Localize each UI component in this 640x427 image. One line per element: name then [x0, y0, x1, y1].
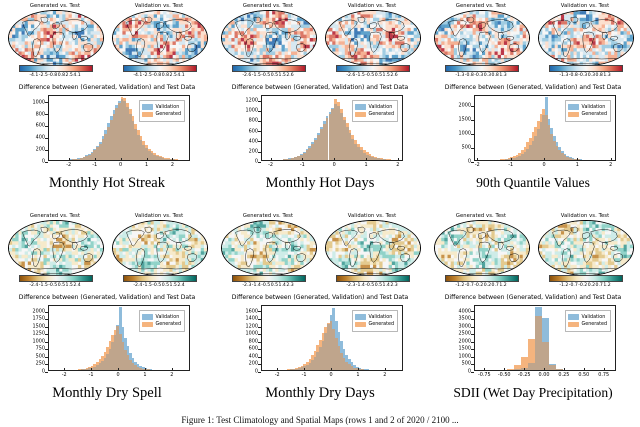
histogram-legend: ValidationGenerated	[565, 310, 611, 332]
colorbar-tick: 1.5	[278, 71, 286, 80]
x-tick-mark	[504, 368, 505, 371]
legend-swatch-generated	[142, 112, 153, 118]
x-axis: -2-1012	[261, 370, 401, 380]
histogram-90th-quantile-values: 0500100015002000ValidationGenerated-2-10…	[428, 92, 638, 178]
x-tick-mark	[611, 158, 612, 161]
y-tick-label: 1250	[33, 332, 45, 337]
panel-monthly-dry-days: Generated vs. Test-2.3-1.4-0.50.51.42.3V…	[215, 212, 425, 407]
world-map-svg	[113, 11, 207, 65]
colorbar-tick: 0.5	[161, 281, 169, 290]
y-tick-label: 1000	[33, 339, 45, 344]
world-map-svg	[222, 221, 316, 275]
y-tick-label: 4000	[459, 309, 471, 314]
legend-entry-validation: Validation	[568, 314, 607, 321]
figure-root: Generated vs. Test-4.1-2.5-0.80.82.54.1V…	[0, 0, 640, 427]
x-tick-label: 1	[145, 160, 148, 170]
colorbar-tick: -0.5	[365, 71, 374, 80]
legend-label-generated: Generated	[369, 111, 394, 118]
colorbar-tick: 2.3	[286, 281, 294, 290]
colorbar-validation: -1.2-0.7-0.20.20.71.2	[535, 275, 635, 291]
globe-validation	[538, 220, 634, 276]
globe-validation	[112, 220, 208, 276]
map-generated-monthly-hot-days: Generated vs. Test-2.6-1.5-0.50.51.52.6	[218, 2, 318, 80]
colorbar-tick: -0.3	[474, 71, 483, 80]
hist-bar-overlap	[528, 363, 535, 370]
colorbar-tick: -0.5	[152, 281, 161, 290]
y-tick-label: 3500	[459, 317, 471, 322]
colorbar-tick: 0.5	[270, 71, 278, 80]
panel-sdii-wet-day-precipitation: Generated vs. Test-1.2-0.7-0.20.20.71.2V…	[428, 212, 638, 407]
x-tick-label: -1	[89, 370, 94, 380]
x-tick-label: -2	[62, 370, 67, 380]
y-axis: 025050075010001250150017502000	[2, 305, 45, 369]
colorbar-tick: -2.5	[143, 71, 152, 80]
y-tick-label: 1600	[246, 309, 258, 314]
x-tick-label: -1	[508, 160, 513, 170]
map-title: Validation vs. Test	[322, 212, 422, 220]
y-tick-label: 1400	[246, 317, 258, 322]
globe-wrap	[218, 10, 318, 64]
colorbar-tick: -1.4	[252, 281, 261, 290]
colorbar-validation: -2.3-1.4-0.50.51.42.3	[322, 275, 422, 291]
x-tick-mark	[118, 368, 119, 371]
x-tick-mark	[366, 158, 367, 161]
x-tick-label: -0.25	[518, 370, 531, 380]
y-tick-label: 400	[36, 136, 45, 141]
map-title: Generated vs. Test	[431, 2, 531, 10]
legend-label-validation: Validation	[369, 104, 393, 111]
colorbar-tick: -2.3	[346, 281, 355, 290]
globe-generated	[8, 220, 104, 276]
colorbar-tick: -0.5	[365, 281, 374, 290]
world-map-svg	[222, 11, 316, 65]
colorbar-tick: 2.5	[169, 71, 177, 80]
map-title: Generated vs. Test	[431, 212, 531, 220]
y-tick-label: 600	[249, 347, 258, 352]
x-tick-label: -1	[302, 370, 307, 380]
histogram-legend: ValidationGenerated	[352, 310, 398, 332]
legend-label-validation: Validation	[156, 314, 180, 321]
histogram-monthly-dry-spell: 025050075010001250150017502000Validation…	[2, 302, 212, 388]
y-tick-label: 2500	[459, 332, 471, 337]
colorbar-tick: -2.4	[133, 281, 142, 290]
globe-wrap	[535, 220, 635, 274]
y-tick-label: 200	[249, 149, 258, 154]
x-tick-label: -0.50	[498, 370, 511, 380]
world-map-svg	[435, 11, 529, 65]
x-tick-mark	[172, 158, 173, 161]
colorbar-tick: -0.8	[465, 71, 474, 80]
map-title: Generated vs. Test	[5, 2, 105, 10]
colorbar-tick: -2.6	[346, 71, 355, 80]
panel-title: SDII (Wet Day Precipitation)	[428, 384, 638, 402]
legend-swatch-validation	[568, 104, 579, 110]
y-tick-label: 1200	[246, 99, 258, 104]
maps-row: Generated vs. Test-1.2-0.7-0.20.20.71.2V…	[428, 212, 638, 290]
colorbar-tick: 0.5	[374, 281, 382, 290]
x-tick-mark	[304, 368, 305, 371]
y-tick-label: 3000	[459, 324, 471, 329]
map-title: Generated vs. Test	[5, 212, 105, 220]
globe-validation	[538, 10, 634, 66]
hist-bar-overlap	[535, 316, 542, 371]
histogram-title: Difference between (Generated, Validatio…	[428, 293, 638, 302]
y-tick-label: 2000	[459, 104, 471, 109]
x-tick-label: 0	[116, 370, 119, 380]
legend-entry-validation: Validation	[142, 104, 181, 111]
x-tick-label: 1	[143, 370, 146, 380]
colorbar-tick: -0.7	[569, 281, 578, 290]
x-axis: -2-1012	[48, 370, 188, 380]
x-tick-mark	[398, 158, 399, 161]
histogram-sdii-wet-day-precipitation: 05001000150020002500300035004000Validati…	[428, 302, 638, 388]
map-generated-sdii-wet-day-precipitation: Generated vs. Test-1.2-0.7-0.20.20.71.2	[431, 212, 531, 290]
colorbar-tick: -0.3	[578, 71, 587, 80]
x-tick-label: 2	[171, 160, 174, 170]
colorbar-tick: -2.4	[29, 281, 38, 290]
legend-swatch-generated	[355, 322, 366, 328]
maps-row: Generated vs. Test-1.3-0.8-0.30.30.81.3V…	[428, 2, 638, 80]
colorbar-ticklabels: -4.1-2.5-0.80.82.54.1	[5, 71, 105, 80]
histogram-title: Difference between (Generated, Validatio…	[215, 293, 425, 302]
x-tick-label: 2	[396, 160, 399, 170]
colorbar-tick: 0.8	[595, 71, 603, 80]
colorbar-tick: 2.4	[73, 281, 81, 290]
globe-wrap	[109, 220, 209, 274]
x-tick-label: 1	[364, 160, 367, 170]
x-tick-mark	[95, 158, 96, 161]
y-tick-label: 1500	[33, 324, 45, 329]
colorbar-ticklabels: -2.3-1.4-0.50.51.42.3	[218, 281, 318, 290]
colorbar-tick: 2.6	[286, 71, 294, 80]
map-validation-monthly-dry-days: Validation vs. Test-2.3-1.4-0.50.51.42.3	[322, 212, 422, 290]
histogram-monthly-hot-days: 020040060080010001200ValidationGenerated…	[215, 92, 425, 178]
x-tick-label: -2	[475, 160, 480, 170]
map-validation-monthly-dry-spell: Validation vs. Test-2.4-1.5-0.50.51.52.4	[109, 212, 209, 290]
x-tick-mark	[484, 368, 485, 371]
y-tick-label: 1200	[246, 324, 258, 329]
globe-validation	[112, 10, 208, 66]
colorbar-tick: -0.2	[474, 281, 483, 290]
x-tick-label: 0.00	[539, 370, 550, 380]
colorbar-tick: 0.8	[161, 71, 169, 80]
legend-label-generated: Generated	[156, 321, 181, 328]
x-axis: -0.75-0.50-0.250.000.250.500.75	[474, 370, 614, 380]
colorbar-tick: 2.3	[390, 281, 398, 290]
map-generated-90th-quantile-values: Generated vs. Test-1.3-0.8-0.30.30.81.3	[431, 2, 531, 80]
colorbar-tick: -0.8	[48, 71, 57, 80]
x-tick-mark	[334, 158, 335, 161]
colorbar-validation: -2.6-1.5-0.50.51.52.6	[322, 65, 422, 81]
histogram-plot-area: ValidationGenerated	[261, 305, 403, 371]
x-tick-label: 0.25	[558, 370, 569, 380]
x-tick-label: 0	[542, 160, 545, 170]
x-tick-mark	[91, 368, 92, 371]
x-tick-mark	[564, 368, 565, 371]
map-validation-90th-quantile-values: Validation vs. Test-1.3-0.8-0.30.30.81.3	[535, 2, 635, 80]
histogram-monthly-dry-days: 02004006008001000120014001600ValidationG…	[215, 302, 425, 388]
colorbar-tick: -2.5	[39, 71, 48, 80]
x-tick-label: 0	[119, 160, 122, 170]
colorbar-ticklabels: -4.1-2.5-0.80.82.54.1	[109, 71, 209, 80]
x-tick-label: 2	[383, 370, 386, 380]
legend-label-validation: Validation	[156, 104, 180, 111]
panel-title: Monthly Dry Spell	[2, 384, 212, 402]
histogram-plot-area: ValidationGenerated	[474, 95, 616, 161]
panel-monthly-dry-spell: Generated vs. Test-2.4-1.5-0.50.51.52.4V…	[2, 212, 212, 407]
world-map-svg	[9, 221, 103, 275]
globe-wrap	[218, 220, 318, 274]
map-validation-monthly-hot-streak: Validation vs. Test-4.1-2.5-0.80.82.54.1	[109, 2, 209, 80]
panel-title: 90th Quantile Values	[428, 174, 638, 192]
histogram-monthly-hot-streak: 02004006008001000ValidationGenerated-2-1…	[2, 92, 212, 178]
y-tick-label: 1000	[33, 100, 45, 105]
map-title: Validation vs. Test	[535, 2, 635, 10]
x-tick-mark	[277, 368, 278, 371]
colorbar-tick: -1.3	[455, 71, 464, 80]
colorbar-tick: 1.5	[169, 281, 177, 290]
histogram-legend: ValidationGenerated	[139, 100, 185, 122]
panel-title: Monthly Dry Days	[215, 384, 425, 402]
y-tick-label: 800	[36, 112, 45, 117]
x-tick-mark	[524, 368, 525, 371]
x-tick-label: 1	[576, 160, 579, 170]
y-tick-label: 400	[249, 139, 258, 144]
y-tick-label: 250	[36, 362, 45, 367]
colorbar-generated: -2.3-1.4-0.50.51.42.3	[218, 275, 318, 291]
map-generated-monthly-dry-spell: Generated vs. Test-2.4-1.5-0.50.51.52.4	[5, 212, 105, 290]
panel-90th-quantile-values: Generated vs. Test-1.3-0.8-0.30.30.81.3V…	[428, 2, 638, 197]
colorbar-tick: -1.5	[252, 71, 261, 80]
histogram-plot-area: ValidationGenerated	[261, 95, 403, 161]
legend-entry-generated: Generated	[355, 111, 394, 118]
legend-entry-validation: Validation	[142, 314, 181, 321]
y-axis: 02004006008001000120014001600	[215, 305, 258, 369]
colorbar-tick: -2.3	[242, 281, 251, 290]
x-tick-mark	[358, 368, 359, 371]
x-tick-label: 0.50	[578, 370, 589, 380]
x-tick-mark	[331, 368, 332, 371]
colorbar-tick: 1.5	[382, 71, 390, 80]
y-tick-label: 600	[249, 129, 258, 134]
y-tick-label: 2000	[33, 309, 45, 314]
colorbar-ticklabels: -2.4-1.5-0.50.51.52.4	[109, 281, 209, 290]
x-axis: -2-1012	[48, 160, 188, 170]
legend-entry-generated: Generated	[142, 321, 181, 328]
histogram-plot-area: ValidationGenerated	[48, 95, 190, 161]
globe-wrap	[322, 10, 422, 64]
legend-swatch-generated	[568, 322, 579, 328]
legend-label-generated: Generated	[582, 321, 607, 328]
colorbar-tick: 2.5	[65, 71, 73, 80]
legend-label-generated: Generated	[582, 111, 607, 118]
colorbar-tick: 0.7	[595, 281, 603, 290]
x-tick-mark	[145, 368, 146, 371]
colorbar-generated: -1.3-0.8-0.30.30.81.3	[431, 65, 531, 81]
x-tick-label: 2	[170, 370, 173, 380]
map-title: Validation vs. Test	[109, 212, 209, 220]
y-axis: 05001000150020002500300035004000	[428, 305, 471, 369]
world-map-svg	[113, 221, 207, 275]
colorbar-generated: -1.2-0.7-0.20.20.71.2	[431, 275, 531, 291]
y-tick-label: 1500	[459, 118, 471, 123]
colorbar-tick: -1.5	[356, 71, 365, 80]
x-tick-mark	[577, 158, 578, 161]
y-tick-label: 500	[462, 362, 471, 367]
colorbar-tick: 0.8	[491, 71, 499, 80]
x-tick-label: 0	[333, 160, 336, 170]
colorbar-tick: 0.8	[57, 71, 65, 80]
colorbar-tick: -0.2	[578, 281, 587, 290]
x-tick-mark	[511, 158, 512, 161]
world-map-svg	[9, 11, 103, 65]
legend-swatch-generated	[355, 112, 366, 118]
map-title: Generated vs. Test	[218, 2, 318, 10]
y-axis: 020040060080010001200	[215, 95, 258, 159]
globe-generated	[434, 220, 530, 276]
colorbar-validation: -4.1-2.5-0.80.82.54.1	[109, 65, 209, 81]
x-tick-label: 0.75	[598, 370, 609, 380]
x-tick-label: -0.75	[478, 370, 491, 380]
x-tick-label: 0	[329, 370, 332, 380]
x-axis: -2-1012	[261, 160, 401, 170]
globe-generated	[221, 10, 317, 66]
y-tick-label: 2000	[459, 339, 471, 344]
colorbar-tick: -0.5	[48, 281, 57, 290]
histogram-title: Difference between (Generated, Validatio…	[2, 83, 212, 92]
colorbar-tick: 1.3	[603, 71, 611, 80]
globe-wrap	[431, 220, 531, 274]
y-tick-label: 1750	[33, 317, 45, 322]
map-title: Validation vs. Test	[535, 212, 635, 220]
y-tick-label: 600	[36, 124, 45, 129]
globe-generated	[221, 220, 317, 276]
x-tick-mark	[544, 158, 545, 161]
globe-wrap	[5, 10, 105, 64]
colorbar-tick: 1.4	[382, 281, 390, 290]
legend-entry-validation: Validation	[568, 104, 607, 111]
colorbar-tick: -1.5	[39, 281, 48, 290]
globe-generated	[8, 10, 104, 66]
colorbar-tick: 2.4	[177, 281, 185, 290]
colorbar-ticklabels: -2.6-1.5-0.50.51.52.6	[322, 71, 422, 80]
y-tick-label: 500	[462, 146, 471, 151]
x-tick-label: 1	[356, 370, 359, 380]
map-validation-sdii-wet-day-precipitation: Validation vs. Test-1.2-0.7-0.20.20.71.2	[535, 212, 635, 290]
colorbar-tick: 0.3	[587, 71, 595, 80]
y-tick-label: 1000	[459, 132, 471, 137]
legend-swatch-validation	[142, 314, 153, 320]
legend-label-validation: Validation	[582, 314, 606, 321]
colorbar-tick: -0.5	[261, 281, 270, 290]
maps-row: Generated vs. Test-2.4-1.5-0.50.51.52.4V…	[2, 212, 212, 290]
legend-swatch-generated	[568, 112, 579, 118]
colorbar-tick: -1.2	[455, 281, 464, 290]
y-tick-label: 200	[36, 148, 45, 153]
world-map-svg	[539, 221, 633, 275]
map-generated-monthly-hot-streak: Generated vs. Test-4.1-2.5-0.80.82.54.1	[5, 2, 105, 80]
colorbar-tick: -0.5	[261, 71, 270, 80]
legend-swatch-validation	[355, 104, 366, 110]
colorbar-ticklabels: -1.3-0.8-0.30.30.81.3	[431, 71, 531, 80]
figure-caption: Figure 1: Test Climatology and Spatial M…	[0, 414, 640, 427]
legend-entry-validation: Validation	[355, 104, 394, 111]
y-tick-label: 800	[249, 119, 258, 124]
y-tick-label: 400	[249, 354, 258, 359]
panel-title: Monthly Hot Days	[215, 174, 425, 192]
x-tick-mark	[385, 368, 386, 371]
globe-validation	[325, 220, 421, 276]
colorbar-validation: -1.3-0.8-0.30.30.81.3	[535, 65, 635, 81]
legend-label-validation: Validation	[582, 104, 606, 111]
y-tick-label: 500	[36, 354, 45, 359]
globe-wrap	[322, 220, 422, 274]
globe-wrap	[431, 10, 531, 64]
map-title: Validation vs. Test	[322, 2, 422, 10]
legend-entry-generated: Generated	[355, 321, 394, 328]
colorbar-tick: 4.1	[177, 71, 185, 80]
x-tick-mark	[147, 158, 148, 161]
legend-swatch-generated	[142, 322, 153, 328]
map-generated-monthly-dry-days: Generated vs. Test-2.3-1.4-0.50.51.42.3	[218, 212, 318, 290]
x-tick-mark	[302, 158, 303, 161]
x-tick-mark	[64, 368, 65, 371]
colorbar-ticklabels: -2.4-1.5-0.50.51.52.4	[5, 281, 105, 290]
colorbar-tick: 1.2	[499, 281, 507, 290]
colorbar-tick: 1.3	[499, 71, 507, 80]
panel-monthly-hot-streak: Generated vs. Test-4.1-2.5-0.80.82.54.1V…	[2, 2, 212, 197]
panel-title: Monthly Hot Streak	[2, 174, 212, 192]
x-tick-label: -1	[92, 160, 97, 170]
colorbar-tick: 0.2	[483, 281, 491, 290]
x-tick-mark	[69, 158, 70, 161]
world-map-svg	[326, 11, 420, 65]
maps-row: Generated vs. Test-2.3-1.4-0.50.51.42.3V…	[215, 212, 425, 290]
colorbar-tick: -0.7	[465, 281, 474, 290]
y-tick-label: 750	[36, 347, 45, 352]
x-axis: -2-1012	[474, 160, 614, 170]
map-title: Validation vs. Test	[109, 2, 209, 10]
colorbar-tick: -1.5	[143, 281, 152, 290]
y-tick-label: 1000	[246, 109, 258, 114]
y-tick-label: 800	[249, 339, 258, 344]
globe-validation	[325, 10, 421, 66]
colorbar-generated: -2.4-1.5-0.50.51.52.4	[5, 275, 105, 291]
x-tick-label: -2	[275, 370, 280, 380]
colorbar-ticklabels: -1.3-0.8-0.30.30.81.3	[535, 71, 635, 80]
colorbar-ticklabels: -1.2-0.7-0.20.20.71.2	[431, 281, 531, 290]
histogram-legend: ValidationGenerated	[139, 310, 185, 332]
y-tick-label: 200	[249, 362, 258, 367]
legend-label-generated: Generated	[369, 321, 394, 328]
y-tick-label: 1000	[459, 354, 471, 359]
panel-monthly-hot-days: Generated vs. Test-2.6-1.5-0.50.51.52.6V…	[215, 2, 425, 197]
globe-generated	[434, 10, 530, 66]
colorbar-tick: 2.6	[390, 71, 398, 80]
colorbar-tick: -4.1	[133, 71, 142, 80]
world-map-svg	[539, 11, 633, 65]
x-tick-mark	[544, 368, 545, 371]
colorbar-ticklabels: -1.2-0.7-0.20.20.71.2	[535, 281, 635, 290]
colorbar-tick: 1.2	[603, 281, 611, 290]
x-tick-mark	[172, 368, 173, 371]
hist-bar-overlap	[542, 342, 549, 370]
x-tick-mark	[477, 158, 478, 161]
x-tick-label: -1	[300, 160, 305, 170]
map-title: Generated vs. Test	[218, 212, 318, 220]
y-tick-label: 1500	[459, 347, 471, 352]
legend-label-generated: Generated	[156, 111, 181, 118]
